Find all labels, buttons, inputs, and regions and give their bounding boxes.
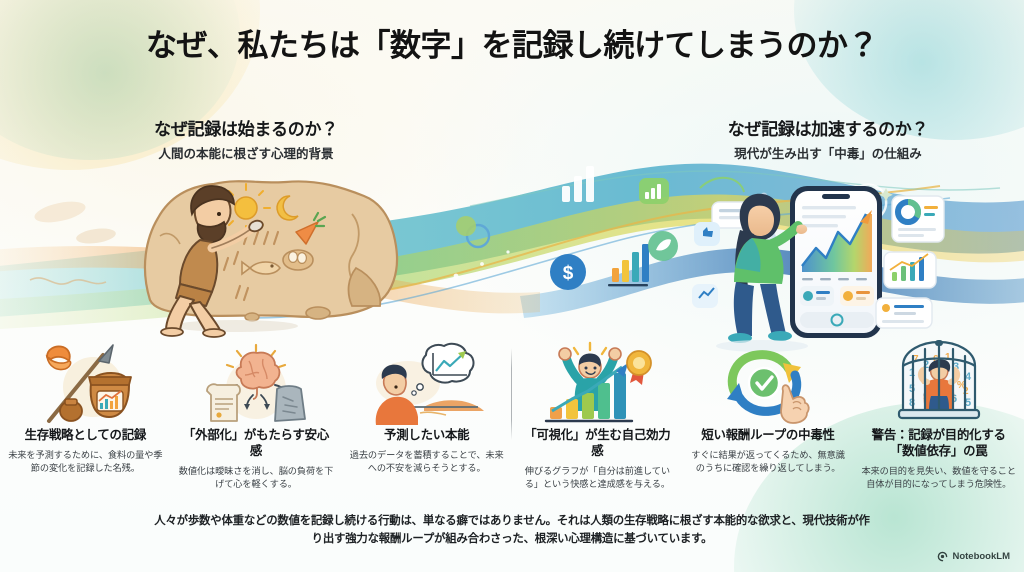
illustration-caveman-scene xyxy=(145,181,397,337)
card-title: 「外部化」がもたらす安心感 xyxy=(179,428,334,460)
refresh-loop-checkmark-hand-icon xyxy=(709,341,827,425)
spear-pot-chart-icon xyxy=(29,341,141,425)
card-title: 予測したい本能 xyxy=(384,428,469,444)
card-body: 過去のデータを蓄積することで、未来への不安を減らそうとする。 xyxy=(349,449,504,476)
section-right-heading: なぜ記録は加速するのか？ xyxy=(673,115,983,140)
insight-card: 予測したい本能 過去のデータを蓄積することで、未来への不安を減らそうとする。 xyxy=(341,340,512,500)
section-right-subheading: 現代が生み出す「中毒」の仕組み xyxy=(673,143,983,162)
svg-text:$: $ xyxy=(563,263,574,284)
card-title: 「可視化」が生む自己効力感 xyxy=(520,428,675,460)
card-title: 警告：記録が目的化する「数値依存」の罠 xyxy=(861,428,1016,460)
card-title: 短い報酬ループの中毒性 xyxy=(701,428,834,444)
card-art: 158 29 36 45 06 1% 72 xyxy=(861,340,1016,426)
stone-tablet-icon xyxy=(275,386,305,421)
ribbon-bar-chart-small xyxy=(608,244,649,286)
floating-badge-settings xyxy=(692,284,718,308)
notebooklm-logo-icon xyxy=(937,551,948,562)
person-thought-bubble-chart-icon xyxy=(368,341,486,425)
insight-card: 158 29 36 45 06 1% 72 xyxy=(853,340,1024,500)
watermark-label: NotebookLM xyxy=(952,551,1010,562)
award-medal-icon xyxy=(627,351,651,385)
ribbon-chart-badge-green xyxy=(639,178,669,204)
card-title: 生存戦略としての記録 xyxy=(25,428,147,444)
floating-badge-thumb xyxy=(694,222,720,246)
section-left-subheading: 人間の本能に根ざす心理的背景 xyxy=(96,143,396,162)
brain-scroll-stone-tablet-icon xyxy=(197,341,315,425)
card-art xyxy=(691,340,846,426)
celebration-rays xyxy=(574,343,606,354)
card-body: 数値化は曖昧さを消し、脳の負荷を下げて心を軽くする。 xyxy=(179,465,334,492)
celebrating-person-bar-chart-medal-icon xyxy=(536,341,658,425)
insight-card: 「可視化」が生む自己効力感 伸びるグラフが「自分は前進している」という快感と達成… xyxy=(512,340,683,500)
ribbon-dollar-badge: $ xyxy=(550,254,586,290)
floating-card-donut xyxy=(892,196,944,242)
section-header-left: なぜ記録は始まるのか？ 人間の本能に根ざす心理的背景 xyxy=(96,115,396,162)
summary-text: 人々が歩数や体重などの数値を記録し続ける行動は、単なる癖ではありません。それは人… xyxy=(150,512,874,549)
card-art xyxy=(349,340,504,426)
ribbon-leaf-badge xyxy=(648,231,678,261)
insight-card: 短い報酬ループの中毒性 すぐに結果が返ってくるため、無意識のうちに確認を繰り返し… xyxy=(683,340,854,500)
person-trapped-in-number-cage-icon: 158 29 36 45 06 1% 72 xyxy=(887,340,991,426)
section-header-right: なぜ記録は加速するのか？ 現代が生み出す「中毒」の仕組み xyxy=(673,115,983,162)
scroll-icon xyxy=(207,384,240,421)
notebooklm-watermark: NotebookLM xyxy=(937,551,1010,562)
section-left-heading: なぜ記録は始まるのか？ xyxy=(96,115,396,140)
card-art xyxy=(8,340,163,426)
cave-drawing-nest-eggs xyxy=(283,250,313,270)
card-body: すぐに結果が返ってくるため、無意識のうちに確認を繰り返してしまう。 xyxy=(691,449,846,476)
infographic-canvas: $ xyxy=(0,0,1024,572)
insight-card: 生存戦略としての記録 未来を予測するために、食料の量や季節の変化を記録した名残。 xyxy=(0,340,171,500)
card-body: 本来の目的を見失い、数値を守ること自体が目的になってしまう危険性。 xyxy=(861,465,1016,492)
page-title: なぜ、私たちは「数字」を記録し続けてしまうのか？ xyxy=(0,20,1024,65)
insight-card-row: 生存戦略としての記録 未来を予測するために、食料の量や季節の変化を記録した名残。 xyxy=(0,340,1024,500)
insight-card: 「外部化」がもたらす安心感 数値化は曖昧さを消し、脳の負荷を下げて心を軽くする。 xyxy=(171,340,342,500)
floating-card-bars xyxy=(884,252,936,288)
card-body: 未来を予測するために、食料の量や季節の変化を記録した名残。 xyxy=(8,449,163,476)
floating-card-list xyxy=(876,298,932,328)
card-art xyxy=(520,340,675,426)
card-art xyxy=(179,340,334,426)
card-body: 伸びるグラフが「自分は前進している」という快感と達成感を与える。 xyxy=(520,465,675,492)
